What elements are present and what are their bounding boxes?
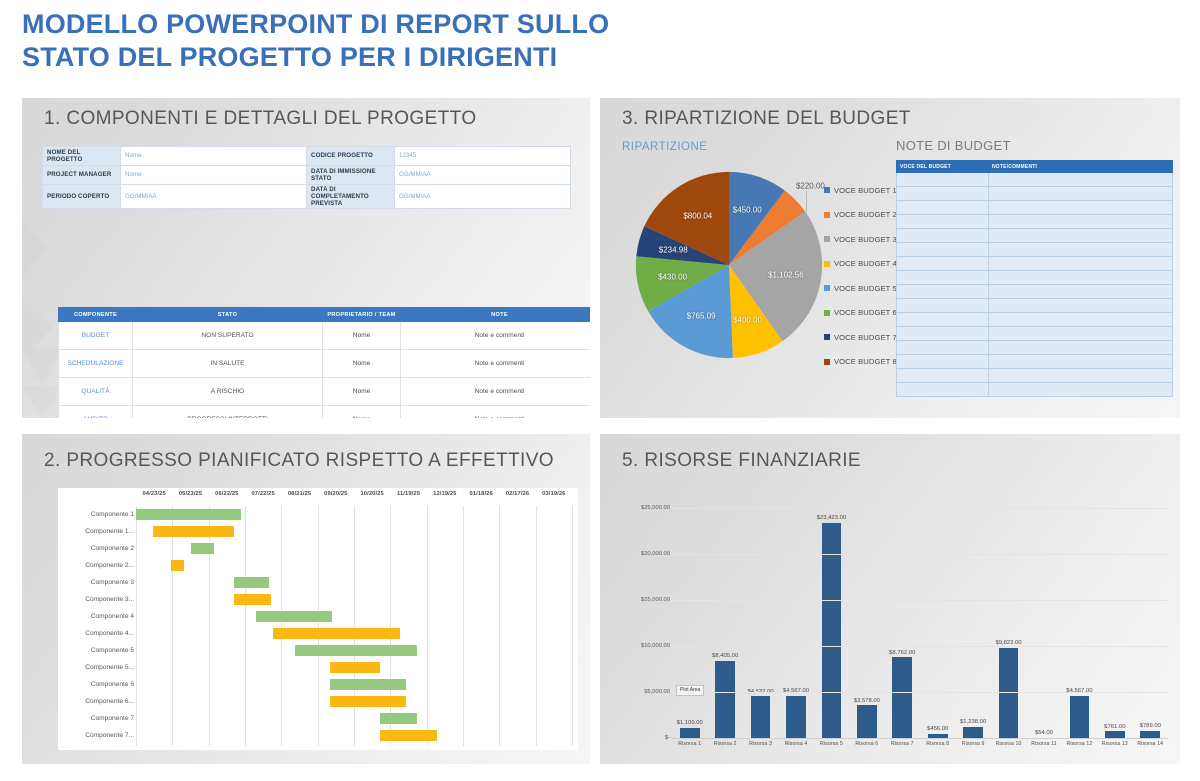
legend-label: VOCE BUDGET 5	[834, 284, 897, 293]
detail-label: DATA DI IMMISSIONE STATO	[307, 166, 395, 185]
status-cell[interactable]: IN SALUTE	[133, 350, 323, 378]
gantt-bar-actual[interactable]	[171, 560, 184, 571]
owner-cell[interactable]: Nome	[323, 406, 401, 419]
budget-comment-cell[interactable]	[989, 327, 1173, 341]
detail-label: PERIODO COPERTO	[43, 185, 121, 209]
project-details-table: NOME DEL PROGETTONomeCODICE PROGETTO1234…	[42, 146, 571, 209]
owner-cell[interactable]: Nome	[323, 378, 401, 406]
legend-color-swatch	[824, 310, 830, 316]
page-title-line1: MODELLO POWERPOINT DI REPORT SULLO	[22, 8, 922, 41]
legend-color-swatch	[824, 187, 830, 193]
gantt-bar-actual[interactable]	[330, 696, 406, 707]
gantt-date-tick: 10/20/25	[360, 491, 383, 497]
budget-item-cell[interactable]	[897, 299, 989, 313]
bar[interactable]	[751, 696, 771, 738]
gantt-row: Componente 4	[58, 608, 578, 625]
bar[interactable]	[963, 727, 983, 738]
table-row: SCHEDULAZIONEIN SALUTENomeNote e comment…	[59, 350, 591, 378]
bar-category-label: Risorsa 8	[926, 741, 949, 747]
y-axis-tick-label: $5,000.00	[614, 689, 670, 695]
pie-slice-value-label: $234.98	[659, 246, 688, 255]
budget-comment-cell[interactable]	[989, 229, 1173, 243]
project-detail-row: PERIODO COPERTOGG/MM/AADATA DI COMPLETAM…	[43, 185, 571, 209]
gantt-row: Componente 1...	[58, 523, 578, 540]
gantt-row-label: Componente 2...	[62, 559, 134, 572]
gantt-row: Componente 2...	[58, 557, 578, 574]
bar[interactable]	[1140, 731, 1160, 738]
detail-label: NOME DEL PROGETTO	[43, 147, 121, 166]
bar-category-label: Risorsa 5	[820, 741, 843, 747]
gantt-date-tick: 12/19/25	[433, 491, 456, 497]
status-cell[interactable]: A RISCHIO	[133, 378, 323, 406]
detail-value[interactable]: GG/MM/AA	[395, 185, 571, 209]
page-title: MODELLO POWERPOINT DI REPORT SULLO STATO…	[22, 8, 922, 74]
budget-item-cell[interactable]	[897, 313, 989, 327]
legend-label: VOCE BUDGET 3	[834, 235, 897, 244]
gantt-chart: 04/23/2505/23/2506/22/2507/22/2508/21/25…	[58, 488, 578, 750]
bar-category-label: Risorsa 10	[996, 741, 1022, 747]
legend-label: VOCE BUDGET 4	[834, 259, 897, 268]
budget-comment-cell[interactable]	[989, 313, 1173, 327]
gantt-bar-actual[interactable]	[234, 594, 271, 605]
gantt-row: Componente 2	[58, 540, 578, 557]
gantt-row-label: Componente 4	[62, 610, 134, 623]
detail-value[interactable]: Nome	[121, 166, 307, 185]
bar[interactable]	[680, 728, 700, 738]
gantt-row-label: Componente 3	[62, 576, 134, 589]
bar-category-label: Risorsa 12	[1067, 741, 1093, 747]
gantt-bar-actual[interactable]	[330, 662, 380, 673]
budget-item-cell[interactable]	[897, 173, 989, 187]
y-axis-tick-label: $-	[614, 735, 670, 741]
pie-slice-value-label: $400.00	[733, 315, 762, 324]
gantt-row: Componente 3	[58, 574, 578, 591]
panel3-heading: 3. RIPARTIZIONE DEL BUDGET	[622, 108, 911, 130]
bar-category-label: Risorsa 3	[749, 741, 772, 747]
gantt-row-label: Componente 3...	[62, 593, 134, 606]
gantt-row-label: Componente 2	[62, 542, 134, 555]
components-table: COMPONENTESTATOPROPRIETARIO / TEAMNOTE B…	[58, 307, 590, 418]
detail-value[interactable]: GG/MM/AA	[121, 185, 307, 209]
budget-comment-cell[interactable]	[989, 243, 1173, 257]
gantt-bar-planned[interactable]	[256, 611, 332, 622]
budget-comment-cell[interactable]	[989, 215, 1173, 229]
gantt-row-label: Componente 6...	[62, 695, 134, 708]
bar[interactable]	[892, 657, 912, 738]
gantt-bar-planned[interactable]	[234, 577, 269, 588]
gantt-row: Componente 5...	[58, 659, 578, 676]
budget-item-cell[interactable]	[897, 187, 989, 201]
gantt-row: Componente 3...	[58, 591, 578, 608]
bar-column[interactable]: $1,238.00Risorsa 9	[963, 727, 983, 738]
panel1-heading: 1. COMPONENTI E DETTAGLI DEL PROGETTO	[44, 108, 477, 130]
budget-item-cell[interactable]	[897, 271, 989, 285]
budget-comment-cell[interactable]	[989, 355, 1173, 369]
horizontal-gridline	[672, 646, 1168, 647]
budget-item-cell[interactable]	[897, 341, 989, 355]
legend-label: VOCE BUDGET 8	[834, 357, 897, 366]
bar-value-label: $8,405.00	[712, 653, 738, 659]
bar-category-label: Risorsa 11	[1031, 741, 1056, 747]
bar[interactable]	[1105, 731, 1125, 738]
gantt-row: Componente 5	[58, 642, 578, 659]
gantt-row: Componente 4...	[58, 625, 578, 642]
legend-label: VOCE BUDGET 2	[834, 210, 897, 219]
legend-color-swatch	[824, 212, 830, 218]
gantt-date-tick: 01/18/26	[469, 491, 492, 497]
bar-category-label: Risorsa 7	[891, 741, 914, 747]
gantt-row-label: Componente 4...	[62, 627, 134, 640]
bar-value-label: $23,423.00	[817, 515, 846, 521]
gantt-row: Componente 7...	[58, 727, 578, 744]
page-title-line2: STATO DEL PROGETTO PER I DIRIGENTI	[22, 41, 922, 74]
gantt-row: Componente 7	[58, 710, 578, 727]
notes-table-row	[897, 299, 1173, 313]
bar-value-label: $789.00	[1140, 723, 1161, 729]
component-name-cell: SCHEDULAZIONE	[59, 350, 133, 378]
budget-pie-chart: $450.00$220.00$1,102.56$400.00$765.09$43…	[634, 170, 824, 360]
legend-color-swatch	[824, 285, 830, 291]
horizontal-gridline	[672, 600, 1168, 601]
pie-slice-value-label: $1,102.56	[768, 270, 804, 279]
budget-item-cell[interactable]	[897, 285, 989, 299]
panel-financial-resources: 5. RISORSE FINANZIARIE $25,000.00$20,000…	[600, 434, 1180, 764]
component-name-cell: QUALITÀ	[59, 378, 133, 406]
panel4-heading: 5. RISORSE FINANZIARIE	[622, 450, 861, 472]
bar[interactable]	[715, 661, 735, 738]
gantt-date-tick: 06/22/25	[215, 491, 238, 497]
gantt-row-label: Componente 7...	[62, 729, 134, 742]
gantt-row: Componente 1	[58, 506, 578, 523]
budget-item-cell[interactable]	[897, 229, 989, 243]
budget-item-cell[interactable]	[897, 327, 989, 341]
notes-table-row	[897, 187, 1173, 201]
bar-category-label: Risorsa 2	[714, 741, 737, 747]
gantt-date-tick: 08/21/25	[288, 491, 311, 497]
components-column-header: NOTE	[401, 308, 591, 322]
legend-color-swatch	[824, 261, 830, 267]
budget-comment-cell[interactable]	[989, 173, 1173, 187]
y-axis-tick-label: $20,000.00	[614, 551, 670, 557]
axis-baseline	[672, 738, 1168, 739]
notes-cell[interactable]: Note e commenti	[401, 378, 591, 406]
bar-column[interactable]: $761.00Risorsa 13	[1105, 731, 1125, 738]
component-name-cell: AMBITO	[59, 406, 133, 419]
budget-item-cell[interactable]	[897, 383, 989, 397]
notes-table-row	[897, 341, 1173, 355]
notes-column-header: NOTE/COMMENTI	[989, 161, 1173, 173]
bar-column[interactable]: $789.00Risorsa 14	[1140, 731, 1160, 738]
bar-column[interactable]: $8,405.00Risorsa 2	[715, 661, 735, 738]
detail-value[interactable]: Nome	[121, 147, 307, 166]
bar-column[interactable]: $4,567.00Risorsa 12	[1070, 696, 1090, 738]
bar-category-label: Risorsa 4	[785, 741, 808, 747]
project-detail-row: NOME DEL PROGETTONomeCODICE PROGETTO1234…	[43, 147, 571, 166]
gantt-bar-actual[interactable]	[273, 628, 399, 639]
bar-value-label: $8,762.00	[889, 650, 915, 656]
plot-area-tooltip: Plot Area	[676, 685, 704, 696]
panel-budget-breakdown: 3. RIPARTIZIONE DEL BUDGET RIPARTIZIONE …	[600, 98, 1180, 418]
pie-svg	[634, 170, 824, 360]
horizontal-gridline	[672, 692, 1168, 693]
legend-color-swatch	[824, 236, 830, 242]
budget-comment-cell[interactable]	[989, 299, 1173, 313]
notes-table-row	[897, 243, 1173, 257]
bar-column[interactable]: $8,762.00Risorsa 7	[892, 657, 912, 738]
notes-table-row	[897, 383, 1173, 397]
y-axis-tick-label: $10,000.00	[614, 643, 670, 649]
notes-cell[interactable]: Note e commenti	[401, 350, 591, 378]
bar-category-label: Risorsa 13	[1102, 741, 1128, 747]
bar[interactable]	[786, 696, 806, 738]
pie-subtitle: RIPARTIZIONE	[622, 141, 707, 153]
horizontal-gridline	[672, 554, 1168, 555]
pie-leader-line	[806, 191, 807, 213]
bar[interactable]	[857, 705, 877, 738]
bar-column[interactable]: $1,100.00Risorsa 1	[680, 728, 700, 738]
financial-bar-chart: $25,000.00$20,000.00$15,000.00$10,000.00…	[614, 486, 1170, 754]
gantt-date-tick: 04/23/25	[142, 491, 165, 497]
gantt-bar-planned[interactable]	[136, 509, 241, 520]
gantt-bar-planned[interactable]	[380, 713, 417, 724]
gantt-date-tick: 07/22/25	[251, 491, 274, 497]
gantt-date-tick: 03/19/26	[542, 491, 565, 497]
table-row: BUDGETNON SUPERATONomeNote e commenti	[59, 322, 591, 350]
gantt-row-label: Componente 5	[62, 644, 134, 657]
budget-item-cell[interactable]	[897, 243, 989, 257]
notes-table-row	[897, 201, 1173, 215]
gantt-date-tick: 05/23/25	[179, 491, 202, 497]
notes-table-row	[897, 229, 1173, 243]
bar-column[interactable]: $3,578.00Risorsa 6	[857, 705, 877, 738]
budget-item-cell[interactable]	[897, 355, 989, 369]
budget-comment-cell[interactable]	[989, 341, 1173, 355]
bar-value-label: $761.00	[1104, 724, 1125, 730]
notes-table-row	[897, 355, 1173, 369]
budget-comment-cell[interactable]	[989, 383, 1173, 397]
gantt-row-label: Componente 7	[62, 712, 134, 725]
budget-comment-cell[interactable]	[989, 369, 1173, 383]
pie-slice-value-label: $430.00	[658, 273, 687, 282]
budget-item-cell[interactable]	[897, 369, 989, 383]
horizontal-gridline	[672, 508, 1168, 509]
status-cell[interactable]: PROGRESSI INTERROTTI	[133, 406, 323, 419]
project-detail-row: PROJECT MANAGERNomeDATA DI IMMISSIONE ST…	[43, 166, 571, 185]
notes-table-row	[897, 313, 1173, 327]
bar-value-label: $54.00	[1035, 730, 1053, 736]
components-column-header: PROPRIETARIO / TEAM	[323, 308, 401, 322]
gantt-plot: Componente 1Componente 1...Componente 2C…	[58, 506, 578, 746]
gantt-bar-planned[interactable]	[295, 645, 417, 656]
gantt-row: Componente 6...	[58, 693, 578, 710]
gantt-date-tick: 11/19/25	[397, 491, 420, 497]
bar-category-label: Risorsa 6	[855, 741, 878, 747]
gantt-row: Componente 6	[58, 676, 578, 693]
pie-slice-value-label: $450.00	[733, 206, 762, 215]
bar-column[interactable]: $4,567.00Risorsa 4	[786, 696, 806, 738]
gantt-row-label: Componente 1	[62, 508, 134, 521]
notes-table-row	[897, 215, 1173, 229]
y-axis-tick-label: $25,000.00	[614, 505, 670, 511]
pie-slice-value-label: $800.04	[683, 212, 712, 221]
notes-table-row	[897, 369, 1173, 383]
gantt-row-label: Componente 1...	[62, 525, 134, 538]
notes-table-row	[897, 271, 1173, 285]
panel-planned-vs-actual: 2. PROGRESSO PIANIFICATO RISPETTO A EFFE…	[22, 434, 590, 764]
gantt-bar-planned[interactable]	[330, 679, 406, 690]
gantt-date-tick: 02/17/26	[506, 491, 529, 497]
legend-label: VOCE BUDGET 7	[834, 333, 897, 342]
notes-cell[interactable]: Note e commenti	[401, 322, 591, 350]
budget-item-cell[interactable]	[897, 257, 989, 271]
legend-label: VOCE BUDGET 1	[834, 186, 897, 195]
notes-table-row	[897, 285, 1173, 299]
budget-item-cell[interactable]	[897, 215, 989, 229]
notes-column-header: VOCE DEL BUDGET	[897, 161, 989, 173]
status-cell[interactable]: NON SUPERATO	[133, 322, 323, 350]
panel2-heading: 2. PROGRESSO PIANIFICATO RISPETTO A EFFE…	[44, 450, 554, 472]
panel-project-components: 1. COMPONENTI E DETTAGLI DEL PROGETTO NO…	[22, 98, 590, 418]
pie-slice-value-label: $765.09	[687, 311, 716, 320]
gantt-row-label: Componente 6	[62, 678, 134, 691]
owner-cell[interactable]: Nome	[323, 322, 401, 350]
components-column-header: STATO	[133, 308, 323, 322]
notes-table-row	[897, 173, 1173, 187]
notes-cell[interactable]: Note e commenti	[401, 406, 591, 419]
budget-notes-subtitle: NOTE DI BUDGET	[896, 138, 1011, 153]
budget-comment-cell[interactable]	[989, 201, 1173, 215]
bar-value-label: $456.00	[927, 726, 948, 732]
bar-value-label: $1,238.00	[960, 719, 986, 725]
bar-value-label: $1,100.00	[677, 720, 703, 726]
bar-category-label: Risorsa 1	[678, 741, 701, 747]
detail-label: PROJECT MANAGER	[43, 166, 121, 185]
bar[interactable]	[1070, 696, 1090, 738]
pie-slice-value-label: $220.00	[796, 181, 825, 190]
budget-notes-table: VOCE DEL BUDGETNOTE/COMMENTI	[896, 160, 1173, 397]
bar-chart-plot: $1,100.00Risorsa 1$8,405.00Risorsa 2$4,5…	[672, 486, 1168, 754]
notes-table-row	[897, 257, 1173, 271]
gantt-date-tick: 09/20/25	[324, 491, 347, 497]
gantt-row-label: Componente 5...	[62, 661, 134, 674]
budget-comment-cell[interactable]	[989, 187, 1173, 201]
y-axis-tick-label: $15,000.00	[614, 597, 670, 603]
budget-comment-cell[interactable]	[989, 271, 1173, 285]
detail-label: CODICE PROGETTO	[307, 147, 395, 166]
legend-label: VOCE BUDGET 6	[834, 308, 897, 317]
table-row: QUALITÀA RISCHIONomeNote e commenti	[59, 378, 591, 406]
notes-table-row	[897, 327, 1173, 341]
legend-color-swatch	[824, 334, 830, 340]
bar-category-label: Risorsa 9	[962, 741, 985, 747]
table-row: AMBITOPROGRESSI INTERROTTINomeNote e com…	[59, 406, 591, 419]
budget-notes-header: VOCE DEL BUDGETNOTE/COMMENTI	[897, 161, 1173, 173]
detail-value[interactable]: GG/MM/AA	[395, 166, 571, 185]
owner-cell[interactable]: Nome	[323, 350, 401, 378]
component-name-cell: BUDGET	[59, 322, 133, 350]
bar-category-label: Risorsa 14	[1137, 741, 1163, 747]
bar-value-label: $3,578.00	[854, 698, 880, 704]
budget-item-cell[interactable]	[897, 201, 989, 215]
gantt-bar-actual[interactable]	[380, 730, 437, 741]
components-table-header: COMPONENTESTATOPROPRIETARIO / TEAMNOTE	[59, 308, 591, 322]
legend-color-swatch	[824, 359, 830, 365]
budget-comment-cell[interactable]	[989, 285, 1173, 299]
bar-column[interactable]: $4,532.00Risorsa 3	[751, 696, 771, 738]
budget-comment-cell[interactable]	[989, 257, 1173, 271]
slide-canvas: MODELLO POWERPOINT DI REPORT SULLO STATO…	[0, 0, 1200, 781]
gantt-bar-actual[interactable]	[153, 526, 234, 537]
detail-label: DATA DI COMPLETAMENTO PREVISTA	[307, 185, 395, 209]
gantt-axis-dates: 04/23/2505/23/2506/22/2507/22/2508/21/25…	[58, 491, 578, 505]
detail-value[interactable]: 12345	[395, 147, 571, 166]
gantt-bar-planned[interactable]	[191, 543, 215, 554]
components-column-header: COMPONENTE	[59, 308, 133, 322]
